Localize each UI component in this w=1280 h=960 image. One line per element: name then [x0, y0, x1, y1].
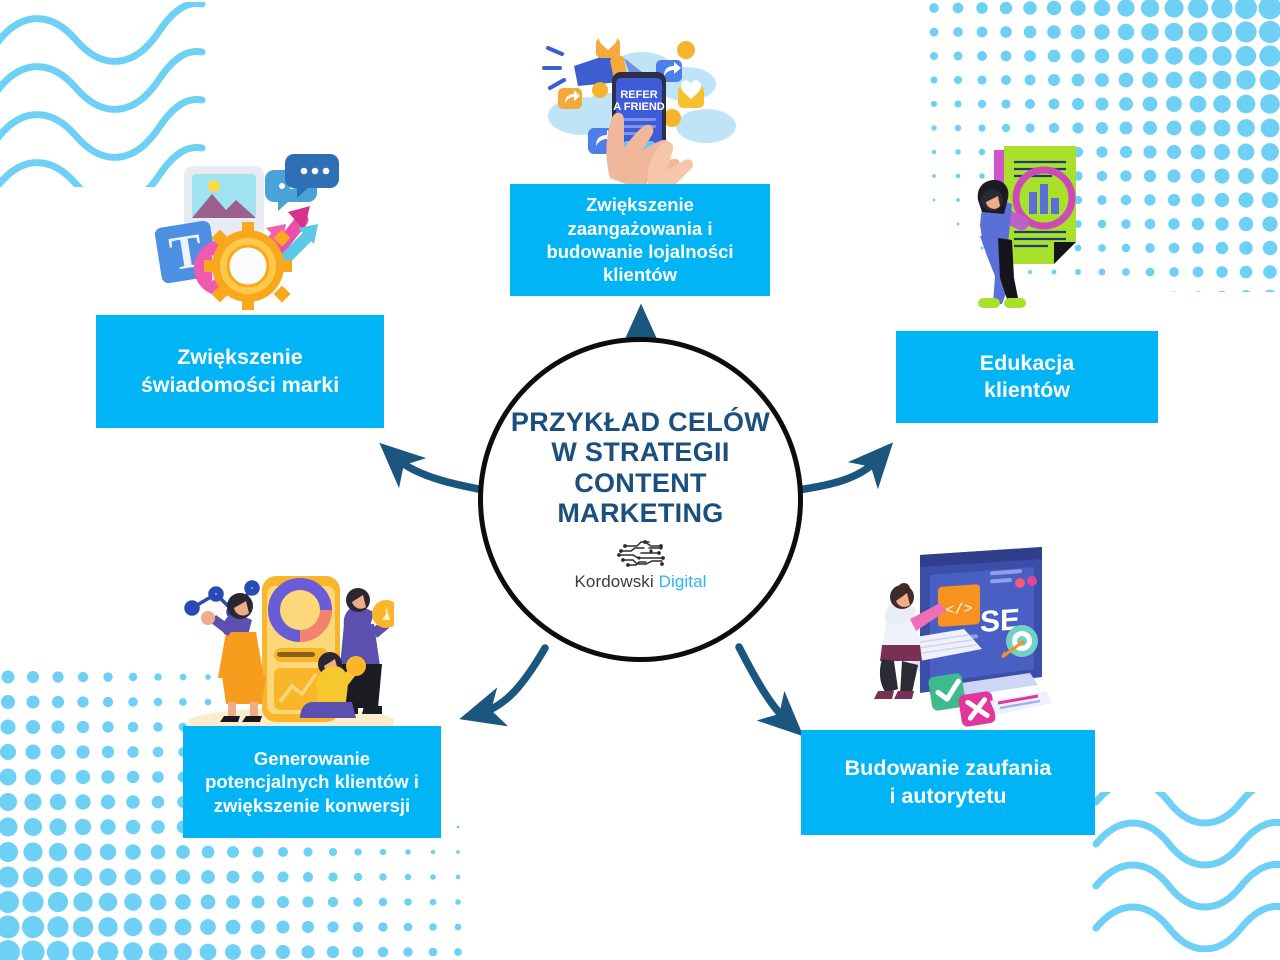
node-label-leads[interactable]: Generowanie potencjalnych klientów i zwi… [183, 726, 441, 838]
brand-logo: Kordowski Digital [574, 539, 706, 592]
chat-bubbles-icon [265, 154, 339, 211]
infographic-canvas: T [0, 0, 1280, 960]
seo-workstation-illustration: </> SE [852, 545, 1052, 727]
lightbulb-icon [372, 600, 394, 628]
refer-a-friend-illustration: REFER A FRIEND [538, 28, 738, 188]
document-analysis-illustration [946, 138, 1096, 310]
node-label-trust[interactable]: Budowanie zaufania i autorytetu [801, 730, 1095, 835]
svg-text:</>: </> [946, 601, 973, 620]
node-label-education[interactable]: Edukacja klientów [896, 331, 1158, 423]
brand-accent: Digital [659, 572, 707, 591]
circuit-brain-icon [615, 539, 667, 569]
node-label-awareness[interactable]: Zwiększenie świadomości marki [96, 315, 384, 428]
branding-design-illustration: T [152, 148, 344, 310]
person-icon [201, 593, 266, 722]
monitor-icon: </> SE [920, 547, 1049, 697]
brand-name: Kordowski [574, 572, 658, 591]
lightbulb-icon [346, 656, 366, 676]
page-title: PRZYKŁAD CELÓW W STRATEGII CONTENT MARKE… [511, 407, 770, 528]
code-tag-icon: </> [938, 584, 980, 627]
document-icon [990, 691, 1052, 715]
svg-text:REFER: REFER [620, 89, 657, 101]
arrow-to-trust [739, 647, 787, 721]
mobile-analytics-team-illustration [182, 562, 394, 737]
gear-icon [204, 222, 292, 310]
svg-text:A FRIEND: A FRIEND [613, 101, 665, 113]
arrow-to-leads [481, 648, 545, 713]
center-circle: PRZYKŁAD CELÓW W STRATEGII CONTENT MARKE… [478, 337, 803, 662]
node-label-engagement[interactable]: Zwiększenie zaangażowania i budowanie lo… [510, 184, 770, 296]
cross-badge-icon [958, 691, 997, 727]
brand-logo-text: Kordowski Digital [574, 572, 706, 592]
wave-lines-pattern-bottom-right [1091, 792, 1280, 952]
